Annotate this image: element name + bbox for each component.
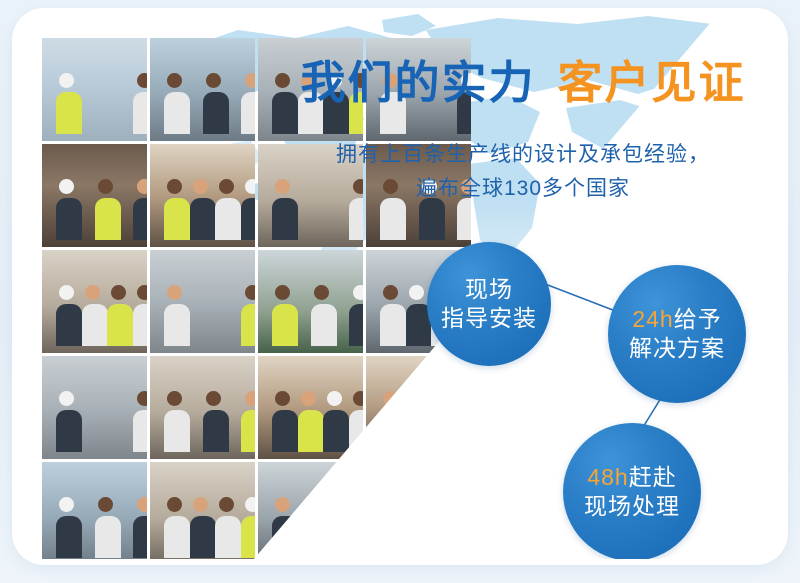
subtitle-line-2: 遍布全球130多个国家 <box>273 172 773 206</box>
bubble-3-line-1: 48h赶赴 <box>587 463 676 492</box>
bubble-2-line-1-text: 给予 <box>674 306 722 332</box>
headline-secondary: 客户见证 <box>558 57 746 108</box>
bubble-48h-onsite[interactable]: 48h赶赴 现场处理 <box>563 423 701 559</box>
bubble-3-line-2: 现场处理 <box>584 492 680 521</box>
bubble-2-line-2: 解决方案 <box>629 334 725 363</box>
subtitle-line-1: 拥有上百条生产线的设计及承包经验， <box>273 138 773 172</box>
bubble-2-highlight: 24h <box>632 306 673 332</box>
bubble-3-highlight: 48h <box>587 464 628 490</box>
bubble-3-line-1-text: 赶赴 <box>629 464 677 490</box>
bubble-1-line-1: 现场 <box>465 275 513 304</box>
page-headline: 我们的实力客户见证 <box>273 60 773 105</box>
headline-primary: 我们的实力 <box>300 57 535 108</box>
page-subtitle: 拥有上百条生产线的设计及承包经验， 遍布全球130多个国家 <box>273 138 773 206</box>
bubble-onsite-guidance[interactable]: 现场 指导安装 <box>427 242 551 366</box>
bubble-1-line-2: 指导安装 <box>441 304 537 333</box>
banner-stage: 我们的实力客户见证 拥有上百条生产线的设计及承包经验， 遍布全球130多个国家 … <box>0 0 800 583</box>
bubble-24h-solution[interactable]: 24h给予 解决方案 <box>608 265 746 403</box>
bubble-2-line-1: 24h给予 <box>632 305 721 334</box>
banner-card: 我们的实力客户见证 拥有上百条生产线的设计及承包经验， 遍布全球130多个国家 … <box>18 14 782 559</box>
